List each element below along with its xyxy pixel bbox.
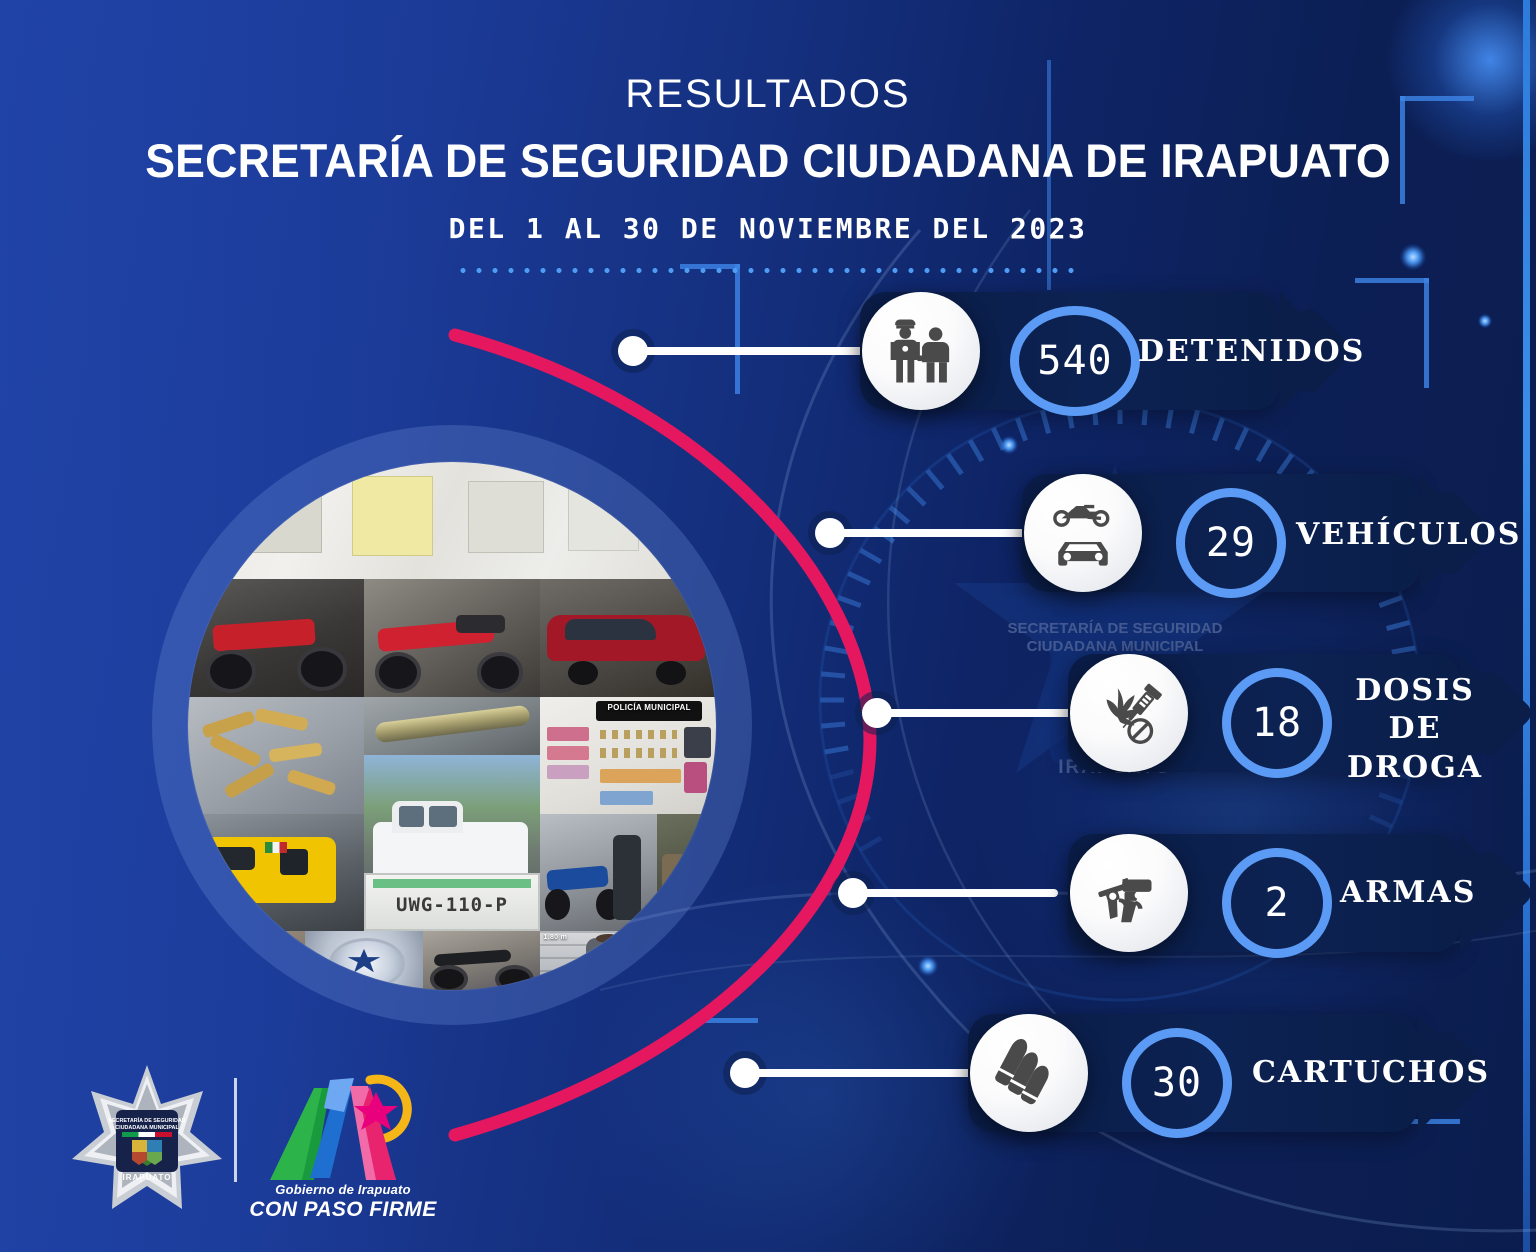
header-kicker: RESULTADOS xyxy=(0,72,1536,117)
stat-label-droga-line1: DOSIS DE xyxy=(1330,672,1500,749)
collage-photo-red-scooter xyxy=(364,579,540,696)
police-arrest-icon xyxy=(862,292,980,410)
stat-value-circle-armas: 2 xyxy=(1222,848,1332,958)
collage-photo-yellow-truck xyxy=(188,814,364,931)
header: RESULTADOS SECRETARÍA DE SEGURIDAD CIUDA… xyxy=(0,0,1536,245)
stat-label-armas: ARMAS xyxy=(1340,874,1476,912)
stat-label-droga-line2: DROGA xyxy=(1330,749,1500,787)
watermark-line2: CIUDADANA MUNICIPAL xyxy=(1027,638,1204,655)
stat-value-cartuchos: 30 xyxy=(1152,1063,1202,1103)
collage-photo-detainee-lineup: 1.80 m xyxy=(540,931,716,990)
connector-line-vehiculos xyxy=(838,529,1038,537)
gobierno-irapuato-logo-text: Gobierno de Irapuato CON PASO FIRME xyxy=(248,1182,438,1222)
stat-value-circle-detenidos: 540 xyxy=(1010,306,1140,416)
stat-label-cartuchos: CARTUCHOS xyxy=(1252,1054,1490,1092)
police-badge-logo: SECRETARÍA DE SEGURIDAD CIUDADANA MUNICI… xyxy=(72,1062,222,1212)
connector-line-detenidos xyxy=(640,347,890,355)
header-dotted-divider xyxy=(455,268,1075,273)
stat-label-droga: DOSIS DE DROGA xyxy=(1330,672,1500,787)
gov-logo-line2: CON PASO FIRME xyxy=(248,1198,438,1222)
glow-dot-1 xyxy=(1400,244,1426,270)
stat-value-armas: 2 xyxy=(1264,883,1289,923)
stat-label-detenidos: DETENIDOS xyxy=(1138,333,1365,371)
collage-photo-motorcycle-officer xyxy=(540,814,657,931)
revolver-pistol-icon xyxy=(1070,834,1188,952)
collage-caption-height-scale: 1.80 m xyxy=(544,934,583,941)
collage-photo-seized-cash-drugs: POLICÍA MUNICIPAL xyxy=(540,697,716,814)
collage-photo-black-motorcycle xyxy=(423,931,540,990)
stat-value-vehiculos: 29 xyxy=(1206,523,1256,563)
bullets-icon xyxy=(970,1014,1088,1132)
police-badge-line2: CIUDADANA MUNICIPAL xyxy=(115,1125,179,1131)
collage-photo-drug-packets xyxy=(188,931,305,990)
glow-dot-2 xyxy=(1478,314,1492,328)
page-title: SECRETARÍA DE SEGURIDAD CIUDADANA DE IRA… xyxy=(38,133,1497,188)
stat-value-circle-cartuchos: 30 xyxy=(1122,1028,1232,1138)
collage-photo-metal-pipe xyxy=(364,697,540,756)
connector-line-armas xyxy=(862,889,1058,897)
watermark-line1: SECRETARÍA DE SEGURIDAD xyxy=(1007,620,1222,637)
stat-label-vehiculos: VEHÍCULOS xyxy=(1296,516,1521,554)
header-date-range: DEL 1 AL 30 DE NOVIEMBRE DEL 2023 xyxy=(0,212,1536,245)
stat-value-detenidos: 540 xyxy=(1037,341,1112,381)
connector-line-droga xyxy=(885,709,1085,717)
photo-collage: POLICÍA MUNICIPAL xyxy=(188,462,716,990)
collage-license-plate-text: UWG-110-P xyxy=(396,894,508,916)
infographic-canvas: SECRETARÍA DE SEGURIDAD CIUDADANA MUNICI… xyxy=(0,0,1536,1252)
collage-photo-drug-bags-top xyxy=(188,462,716,579)
police-badge-line1: SECRETARÍA DE SEGURIDAD xyxy=(108,1116,185,1124)
collage-photo-burned-truck xyxy=(657,814,716,931)
collage-caption-policia-municipal: POLICÍA MUNICIPAL xyxy=(596,703,702,712)
gov-logo-line1: Gobierno de Irapuato xyxy=(248,1182,438,1197)
collage-photo-red-motorcycle xyxy=(188,579,364,696)
footer-logo-divider xyxy=(234,1078,237,1182)
connector-line-cartuchos xyxy=(753,1069,983,1077)
stat-value-circle-droga: 18 xyxy=(1222,668,1332,778)
stat-value-circle-vehiculos: 29 xyxy=(1176,488,1286,598)
motorcycle-car-icon xyxy=(1024,474,1142,592)
collage-photo-police-badge-seal xyxy=(305,931,422,990)
police-badge-city: IRAPUATO xyxy=(122,1173,171,1182)
stat-value-droga: 18 xyxy=(1252,703,1302,743)
drug-syringe-leaf-pill-icon xyxy=(1070,654,1188,772)
collage-photo-red-car xyxy=(540,579,716,696)
bracket-line-right xyxy=(1355,278,1429,388)
collage-photo-bullet-casings xyxy=(188,697,364,814)
collage-photo-license-plate: UWG-110-P xyxy=(364,873,540,932)
